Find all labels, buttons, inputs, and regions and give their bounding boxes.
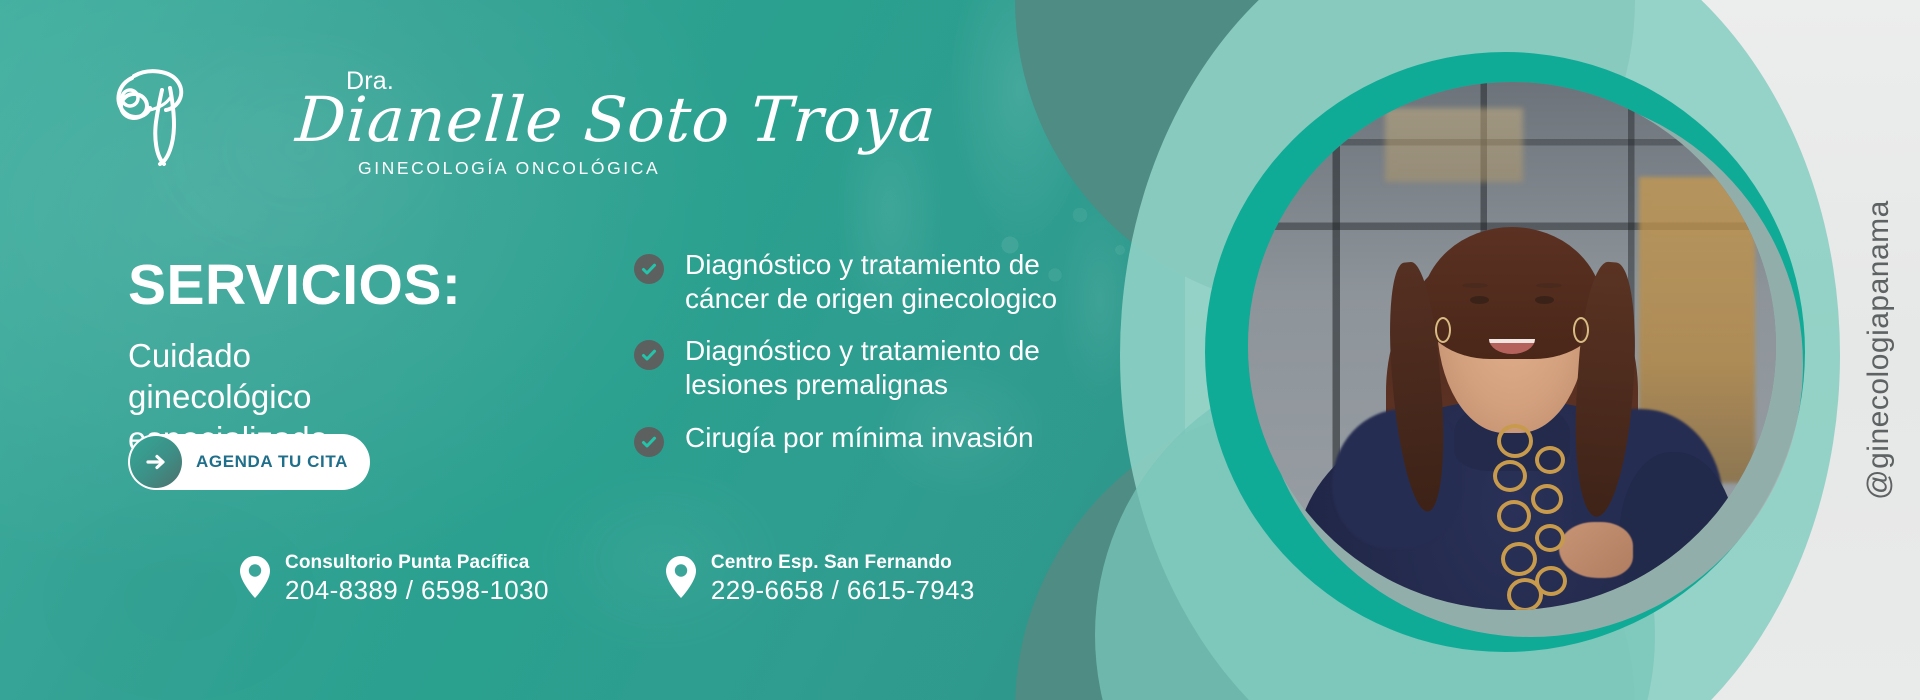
arrow-right-icon xyxy=(130,436,182,488)
check-circle-icon xyxy=(634,340,664,370)
portrait-earring-right xyxy=(1573,317,1589,343)
contact-phone[interactable]: 204-8389 / 6598-1030 xyxy=(285,575,549,606)
portrait-eyebrow-left xyxy=(1462,283,1488,288)
brand-logo: Dra. Dianelle Soto Troya GINECOLOGÍA ONC… xyxy=(108,55,578,200)
portrait-necklace xyxy=(1491,420,1611,610)
contact-name: Consultorio Punta Pacífica xyxy=(285,552,549,574)
portrait-eye-left xyxy=(1470,296,1489,304)
location-pin-icon xyxy=(664,554,698,605)
portrait-eye-right xyxy=(1535,296,1554,304)
agenda-cita-button[interactable]: AGENDA TU CITA xyxy=(128,434,370,490)
contact-name: Centro Esp. San Fernando xyxy=(711,552,975,574)
uterus-ovary-icon xyxy=(108,60,228,175)
location-pin-icon xyxy=(238,554,272,605)
contact-san-fernando[interactable]: Centro Esp. San Fernando 229-6658 / 6615… xyxy=(664,552,975,606)
doctor-portrait xyxy=(1248,82,1776,610)
agenda-cita-label: AGENDA TU CITA xyxy=(182,452,370,472)
list-item: Diagnóstico y tratamiento de lesiones pr… xyxy=(634,334,1094,402)
services-list: Diagnóstico y tratamiento de cáncer de o… xyxy=(634,248,1094,475)
logo-specialty: GINECOLOGÍA ONCOLÓGICA xyxy=(358,158,660,179)
logo-doctor-name: Dianelle Soto Troya xyxy=(293,83,938,156)
portrait-eyebrow-right xyxy=(1536,283,1562,288)
check-circle-icon xyxy=(634,254,664,284)
check-circle-icon xyxy=(634,427,664,457)
contact-punta-pacifica[interactable]: Consultorio Punta Pacífica 204-8389 / 65… xyxy=(238,552,549,606)
page-title: SERVICIOS: xyxy=(128,252,461,318)
contact-phone[interactable]: 229-6658 / 6615-7943 xyxy=(711,575,975,606)
promo-banner: Dra. Dianelle Soto Troya GINECOLOGÍA ONC… xyxy=(0,0,1920,700)
service-text: Cirugía por mínima invasión xyxy=(685,421,1034,455)
instagram-handle[interactable]: @ginecologiapanama xyxy=(1862,200,1896,500)
list-item: Cirugía por mínima invasión xyxy=(634,421,1094,457)
contact-row: Consultorio Punta Pacífica 204-8389 / 65… xyxy=(238,552,975,606)
service-text: Diagnóstico y tratamiento de lesiones pr… xyxy=(685,334,1094,402)
service-text: Diagnóstico y tratamiento de cáncer de o… xyxy=(685,248,1094,316)
portrait-light-panel xyxy=(1385,108,1522,182)
list-item: Diagnóstico y tratamiento de cáncer de o… xyxy=(634,248,1094,316)
